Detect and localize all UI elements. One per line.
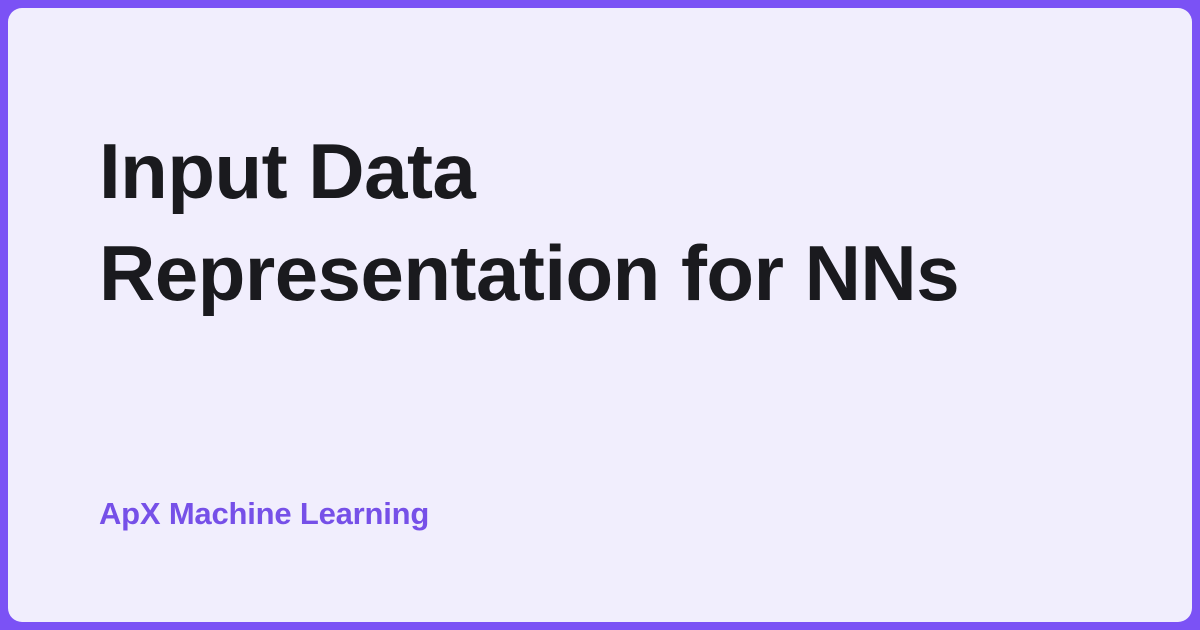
page-title-line-1: Input Data <box>99 120 1132 222</box>
footer: ApX Machine Learning <box>99 495 429 533</box>
brand-name: ApX Machine Learning <box>99 495 429 533</box>
card-inner-surface: Input Data Representation for NNs ApX Ma… <box>8 8 1192 622</box>
page-title: Input Data Representation for NNs <box>99 120 1132 324</box>
og-card: Input Data Representation for NNs ApX Ma… <box>0 0 1200 630</box>
page-title-line-2: Representation for NNs <box>99 222 1132 324</box>
card-content: Input Data Representation for NNs ApX Ma… <box>99 8 1132 622</box>
